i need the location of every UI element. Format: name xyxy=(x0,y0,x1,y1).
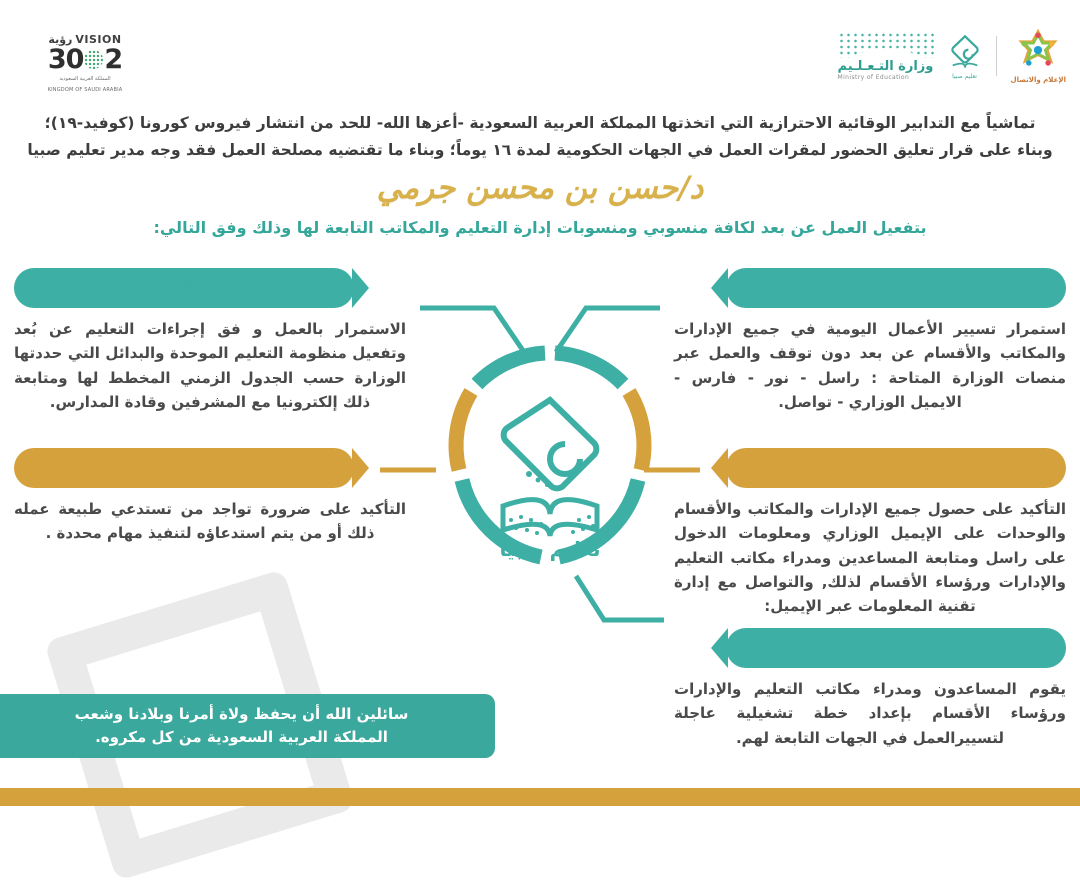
vision-subtitle-ar: المملكة العربية السعودية xyxy=(30,76,140,84)
sabya-education-icon xyxy=(948,33,982,71)
ring-arc-right-gold xyxy=(629,392,644,470)
item-2: 2 التأكيد على حصول جميع الإدارات والمكات… xyxy=(674,448,1066,649)
vision-num-left: 2 xyxy=(104,46,122,73)
footer-line-1: سائلين الله أن يحفظ ولاة أمرنا وبلادنا و… xyxy=(75,705,409,723)
footer-banner: سائلين الله أن يحفظ ولاة أمرنا وبلادنا و… xyxy=(0,694,495,758)
item-5-badge: 5 xyxy=(14,448,354,488)
media-logo-caption: الإعلام والاتصال xyxy=(1011,76,1066,84)
vision-2030-logo: VISION رؤية 2 30 المملكة العربية السعودي… xyxy=(30,33,140,94)
director-signature: د/حسن بن محسن جرمي xyxy=(0,170,1080,206)
item-4-text: الاستمرار بالعمل و فق إجراءات التعليم عن… xyxy=(14,317,406,414)
moe-name-ar: وزارة التـعـلـيم xyxy=(838,59,934,74)
vision-number: 2 30 xyxy=(30,46,140,73)
center-logo-title: تعليم صبيا xyxy=(500,537,601,561)
item-4: 4 الاستمرار بالعمل و فق إجراءات التعليم … xyxy=(14,268,406,414)
item-5: 5 التأكيد على ضرورة تواجد من تستدعي طبيع… xyxy=(14,448,406,546)
vision-subtitle-en: KINGDOM OF SAUDI ARABIA xyxy=(30,87,140,95)
item-2-badge: 2 xyxy=(726,448,1066,488)
vision-dot-icon xyxy=(84,50,103,69)
vision-num-right: 30 xyxy=(48,46,84,73)
header-line-2: وبناء على قرار تعليق الحضور لمقرات العمل… xyxy=(0,137,1080,164)
ring-and-logo: تعليم صبيا xyxy=(441,338,659,596)
moe-dots-icon xyxy=(838,32,934,58)
logo-divider xyxy=(996,36,997,76)
media-logo: الإعلام والاتصال xyxy=(1011,28,1066,84)
sabya-logo-caption: تعليم صبيا xyxy=(952,73,977,80)
center-ring: تعليم صبيا xyxy=(441,338,659,596)
star-people-icon xyxy=(1015,28,1061,74)
header-paragraph: تماشياً مع التدابير الوقائية الاحترازية … xyxy=(0,110,1080,164)
ring-arc-top-right xyxy=(555,353,623,384)
item-1-badge: 1 xyxy=(726,268,1066,308)
page-subtitle: بتفعيل العمل عن بعد لكافة منسوبي ومنسوبا… xyxy=(0,218,1080,237)
ring-arc-top-left xyxy=(477,353,545,384)
logo-bar: VISION رؤية 2 30 المملكة العربية السعودي… xyxy=(0,0,1080,100)
ring-arc-left-gold xyxy=(456,392,471,470)
item-1-text: استمرار تسيير الأعمال اليومية في جميع ال… xyxy=(674,317,1066,414)
item-3-text: يقوم المساعدون ومدراء مكاتب التعليم والإ… xyxy=(674,677,1066,750)
vision-wordmark: VISION رؤية xyxy=(30,33,140,46)
item-3-badge: 3 xyxy=(726,628,1066,668)
ministry-of-education-logo: وزارة التـعـلـيم Ministry of Education xyxy=(838,32,934,81)
footer-line-2: المملكة العربية السعودية من كل مكروه. xyxy=(95,728,388,746)
item-3: 3 يقوم المساعدون ومدراء مكاتب التعليم وا… xyxy=(674,628,1066,750)
footer-text: سائلين الله أن يحفظ ولاة أمرنا وبلادنا و… xyxy=(75,703,409,750)
item-2-text: التأكيد على حصول جميع الإدارات والمكاتب … xyxy=(674,497,1066,618)
bottom-accent-bar xyxy=(0,788,1080,806)
header-line-1: تماشياً مع التدابير الوقائية الاحترازية … xyxy=(0,110,1080,137)
item-4-badge: 4 xyxy=(14,268,354,308)
partner-logos: الإعلام والاتصال تعليم صبيا وزارة التـعـ… xyxy=(838,28,1066,84)
center-sabya-mark xyxy=(503,400,597,536)
sabya-logo-small: تعليم صبيا xyxy=(948,33,982,80)
item-5-text: التأكيد على ضرورة تواجد من تستدعي طبيعة … xyxy=(14,497,406,546)
item-1: 1 استمرار تسيير الأعمال اليومية في جميع … xyxy=(674,268,1066,414)
moe-name-en: Ministry of Education xyxy=(838,74,910,81)
